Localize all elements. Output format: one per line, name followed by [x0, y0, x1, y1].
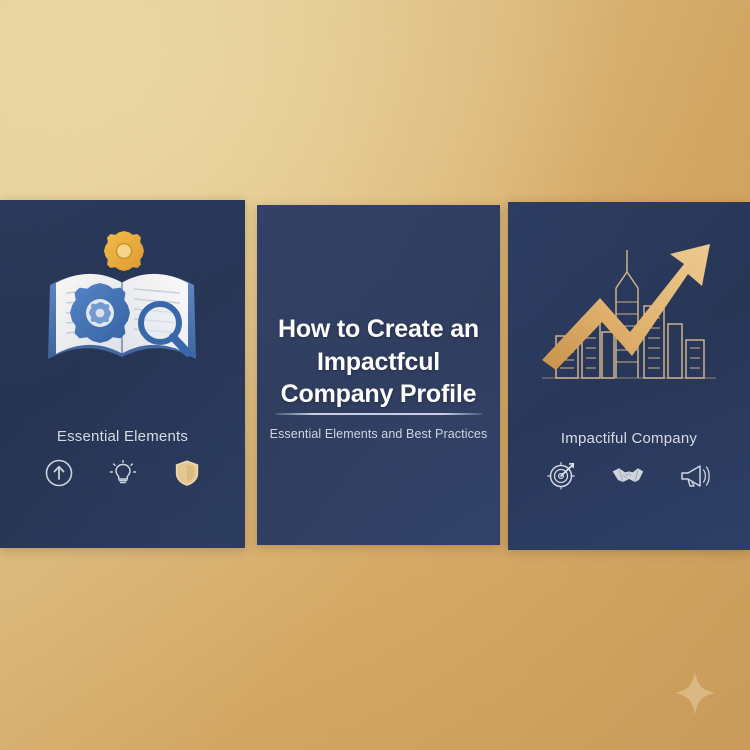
card-label-left: Essential Elements	[0, 428, 245, 445]
handshake-icon[interactable]	[611, 460, 645, 495]
card-label-right: Impactiful Company	[508, 430, 750, 447]
megaphone-icon[interactable]	[679, 460, 711, 495]
lightbulb-icon[interactable]	[108, 458, 138, 493]
growth-arrow-skyline-illustration	[508, 228, 750, 398]
rising-arrow-icon	[542, 244, 710, 370]
gold-gear-icon	[104, 231, 144, 271]
open-book-illustration	[0, 222, 245, 392]
subtitle: Essential Elements and Best Practices	[265, 427, 492, 441]
arrow-up-circle-icon[interactable]	[44, 458, 74, 493]
three-panel-band: Essential Elements	[0, 200, 750, 550]
impactiful-company-card[interactable]: Impactiful Company	[508, 202, 750, 550]
title-card[interactable]: How to Create an Impactfcul Company Prof…	[257, 205, 500, 545]
headline-line-2: Impactfcul	[271, 346, 486, 379]
essential-elements-card[interactable]: Essential Elements	[0, 200, 245, 548]
left-icon-row	[0, 458, 245, 493]
blue-gear-icon	[70, 283, 130, 343]
page-title: How to Create an Impactfcul Company Prof…	[271, 313, 486, 411]
right-icon-row	[508, 460, 750, 495]
headline-line-1: How to Create an	[271, 313, 486, 346]
shield-icon[interactable]	[172, 458, 202, 493]
sparkle-star-watermark	[674, 670, 716, 716]
headline-line-3: Company Profile	[271, 378, 486, 411]
target-dart-icon[interactable]	[547, 460, 577, 495]
poster-canvas: Essential Elements	[0, 0, 750, 750]
title-divider	[275, 413, 482, 415]
